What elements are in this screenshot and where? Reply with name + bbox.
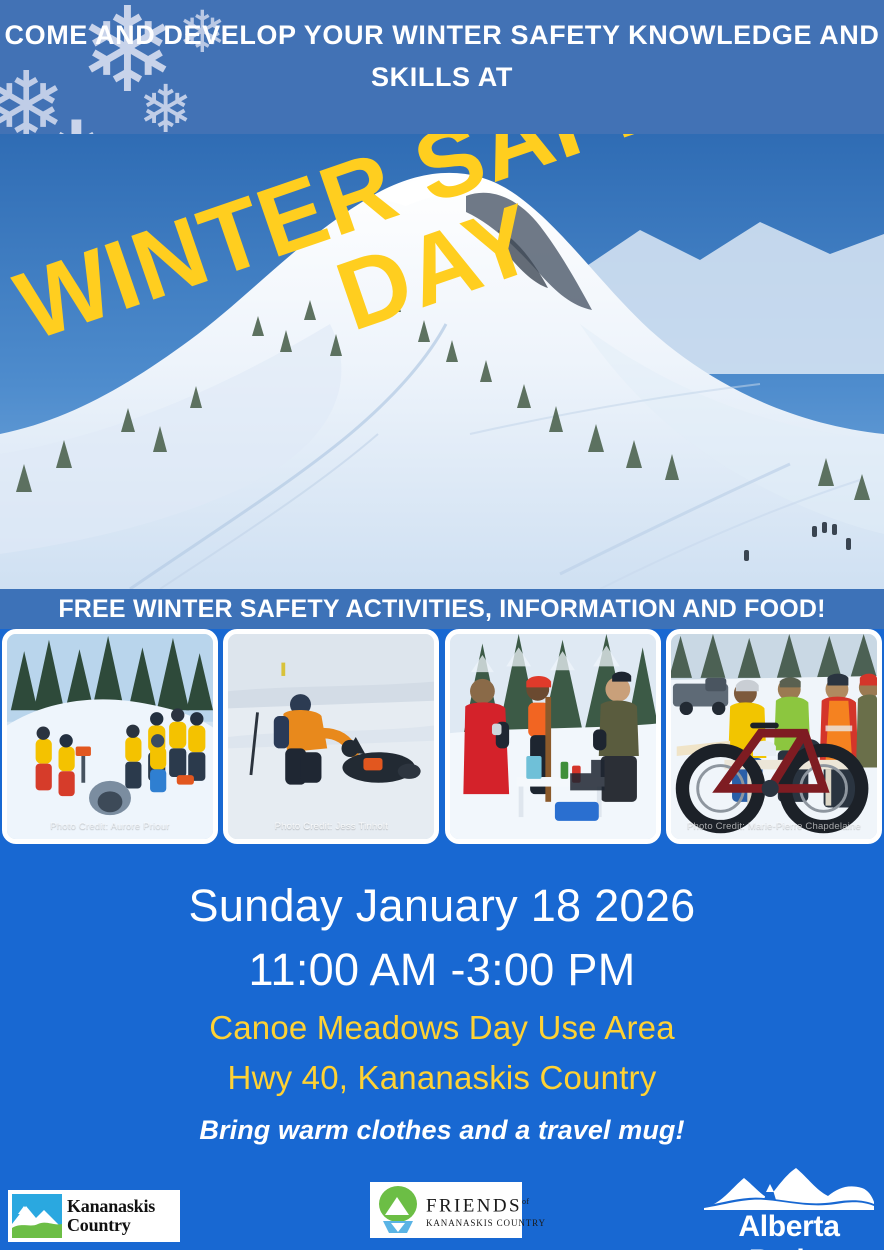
header-tagline: COME AND DEVELOP YOUR WINTER SAFETY KNOW… <box>0 14 884 98</box>
friends-main-text: FRIENDS <box>426 1196 522 1217</box>
info-table-illustration <box>450 634 656 839</box>
fat-bike-illustration <box>671 634 877 839</box>
rescue-dog-illustration <box>228 634 434 839</box>
event-note: Bring warm clothes and a travel mug! <box>0 1107 884 1153</box>
photo-thumbnail-fat-bikes: Photo Credit: Marie-Pierre Chapdelaine <box>666 629 882 844</box>
photo-credit: Photo Credit: Aurore Priour <box>7 821 213 832</box>
snow-shelter-illustration <box>7 634 213 839</box>
friends-leaf-icon <box>375 1185 421 1235</box>
activities-banner-text: FREE WINTER SAFETY ACTIVITIES, INFORMATI… <box>0 591 884 627</box>
event-time: 11:00 AM -3:00 PM <box>0 937 884 1003</box>
event-details: Sunday January 18 2026 11:00 AM -3:00 PM… <box>0 875 884 1153</box>
hero-mountain-photo: WINTER SAFETY DAY <box>0 134 884 589</box>
event-address: Hwy 40, Kananaskis Country <box>0 1053 884 1103</box>
logo-alberta-parks: Alberta Parks <box>704 1166 874 1244</box>
event-venue: Canoe Meadows Day Use Area <box>0 1003 884 1053</box>
poster-header: ❄ ❄ ❄ ❄ ❄ COME AND DEVELOP YOUR WINTER S… <box>0 0 884 134</box>
winter-safety-day-poster: ❄ ❄ ❄ ❄ ❄ COME AND DEVELOP YOUR WINTER S… <box>0 0 884 1250</box>
alberta-parks-mountain-icon <box>704 1166 874 1210</box>
photo-strip: Photo Credit: Aurore Priour <box>0 629 884 851</box>
kananaskis-wordmark: Kananaskis Country <box>67 1197 155 1235</box>
photo-thumbnail-snow-shelter: Photo Credit: Aurore Priour <box>2 629 218 844</box>
sponsor-logos: Kananaskis Country FRIENDSof KANANASKIS … <box>0 1160 884 1250</box>
photo-thumbnail-rescue-dog: Photo Credit: Jess Tinholt <box>223 629 439 844</box>
friends-wordmark: FRIENDSof KANANASKIS COUNTRY <box>426 1191 546 1228</box>
friends-of-text: of <box>522 1197 529 1206</box>
logo-kananaskis-country: Kananaskis Country <box>8 1190 180 1242</box>
photo-credit: Photo Credit: Jess Tinholt <box>228 821 434 832</box>
alberta-parks-wordmark: Alberta Parks <box>704 1210 874 1250</box>
photo-credit: Photo Credit: Marie-Pierre Chapdelaine <box>671 821 877 832</box>
photo-thumbnail-info-table <box>445 629 661 844</box>
event-date: Sunday January 18 2026 <box>0 875 884 937</box>
kananaskis-mountain-icon <box>12 1194 62 1238</box>
friends-sub-text: KANANASKIS COUNTRY <box>426 1217 546 1229</box>
snowflake-icon: ❄ <box>6 100 147 134</box>
logo-friends-of-kananaskis: FRIENDSof KANANASKIS COUNTRY <box>370 1182 522 1238</box>
activities-banner: FREE WINTER SAFETY ACTIVITIES, INFORMATI… <box>0 589 884 629</box>
